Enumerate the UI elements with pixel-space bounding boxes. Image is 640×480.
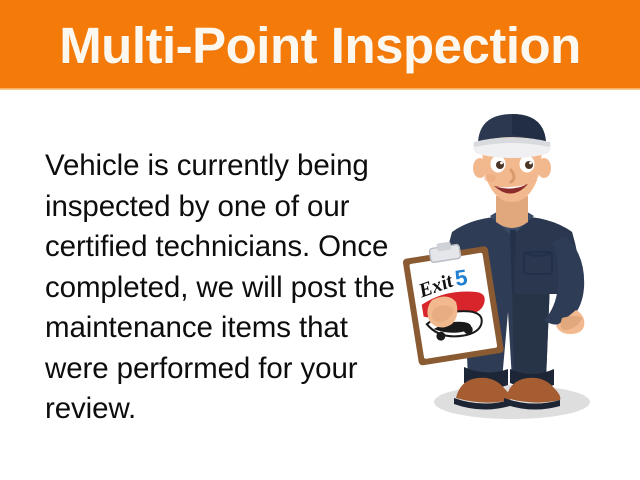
mechanic-illustration: Exit 5	[390, 112, 640, 432]
clipboard: Exit 5	[401, 236, 504, 366]
page-title: Multi-Point Inspection	[0, 0, 640, 90]
cap	[473, 114, 551, 158]
slide-canvas: Multi-Point Inspection Vehicle is curren…	[0, 0, 640, 480]
body-paragraph: Vehicle is currently being inspected by …	[45, 146, 400, 430]
